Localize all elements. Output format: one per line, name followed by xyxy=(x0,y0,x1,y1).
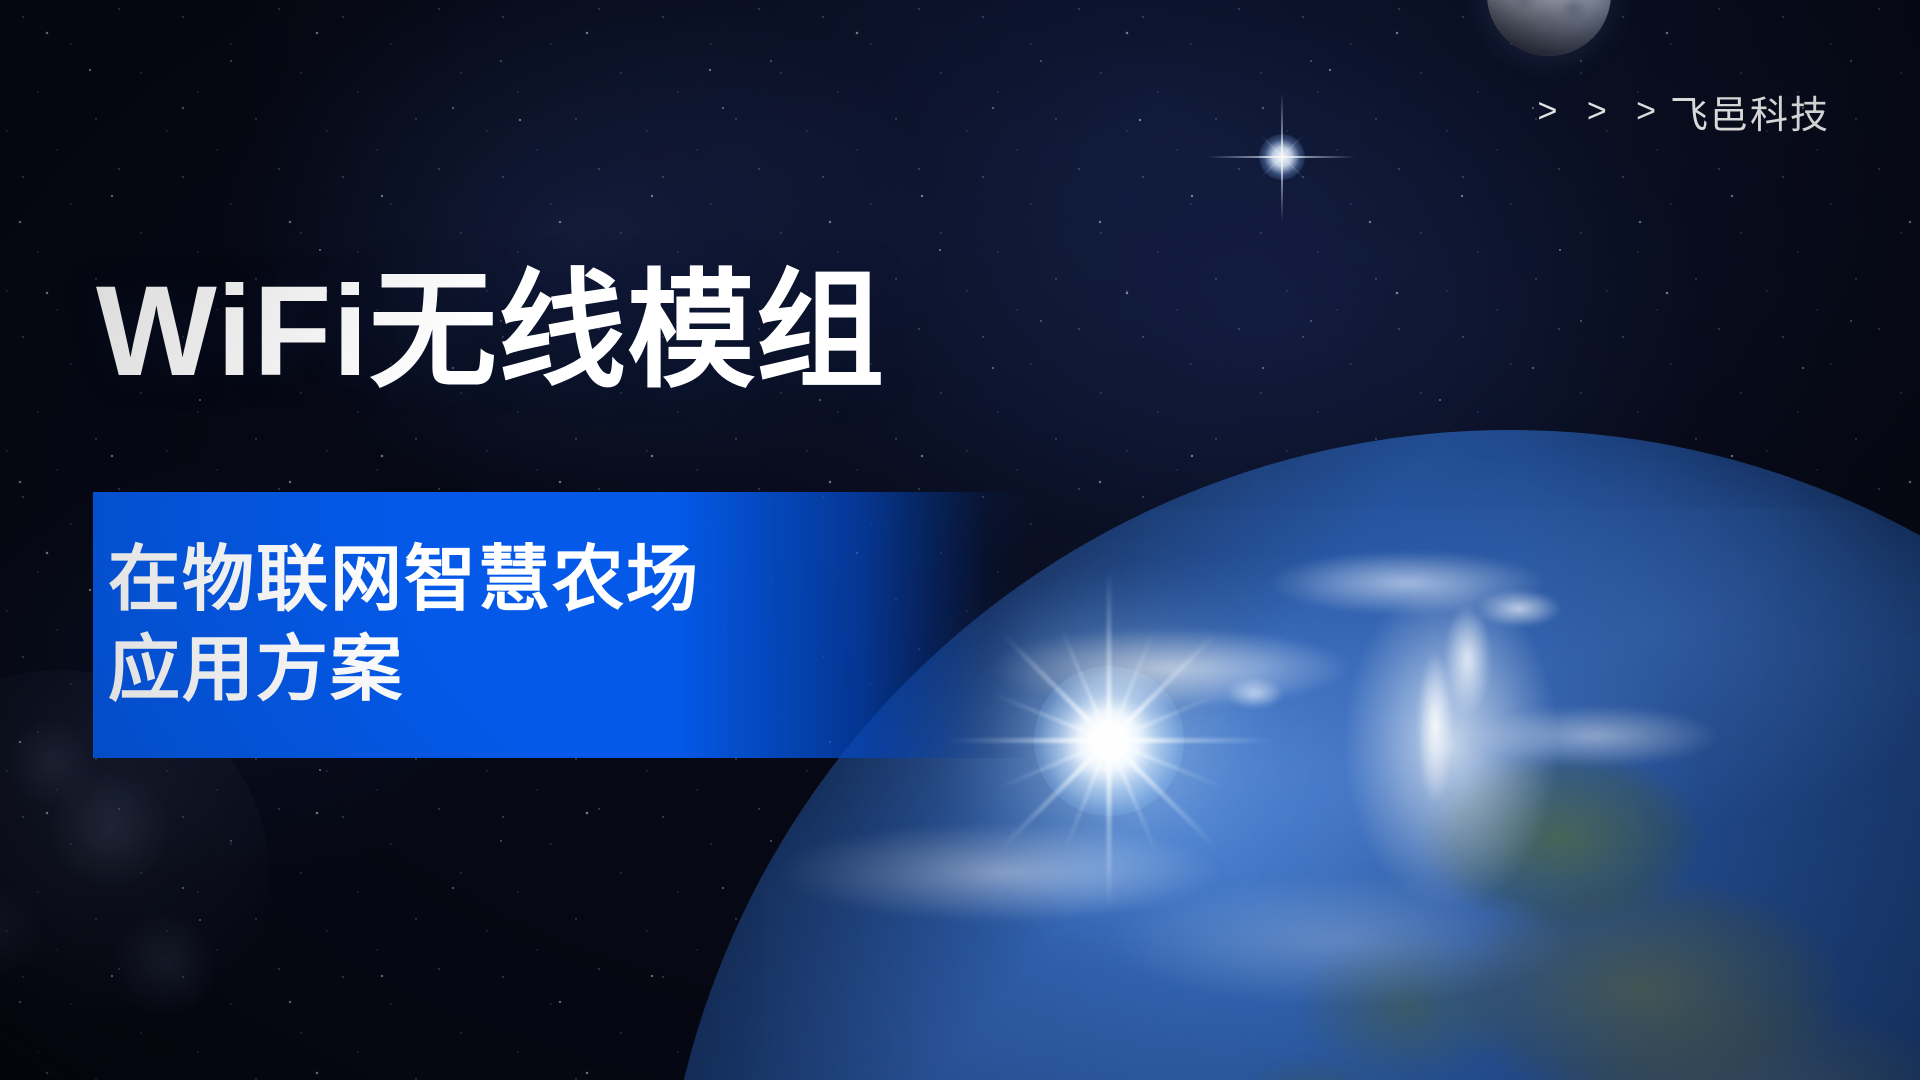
brand-name: 飞邑科技 xyxy=(1670,84,1830,139)
page-title: WiFi无线模组 xyxy=(96,268,885,396)
subtitle-block: 在物联网智慧农场 应用方案 xyxy=(108,492,1008,758)
subtitle-line-2: 应用方案 xyxy=(108,634,1008,706)
subtitle-line-1: 在物联网智慧农场 xyxy=(108,544,1008,616)
slide-canvas: > > > 飞邑科技 WiFi无线模组 在物联网智慧农场 应用方案 xyxy=(0,0,1920,1080)
brand-logo[interactable]: > > > 飞邑科技 xyxy=(1538,84,1830,139)
chevron-right-icon: > > > xyxy=(1538,92,1666,131)
